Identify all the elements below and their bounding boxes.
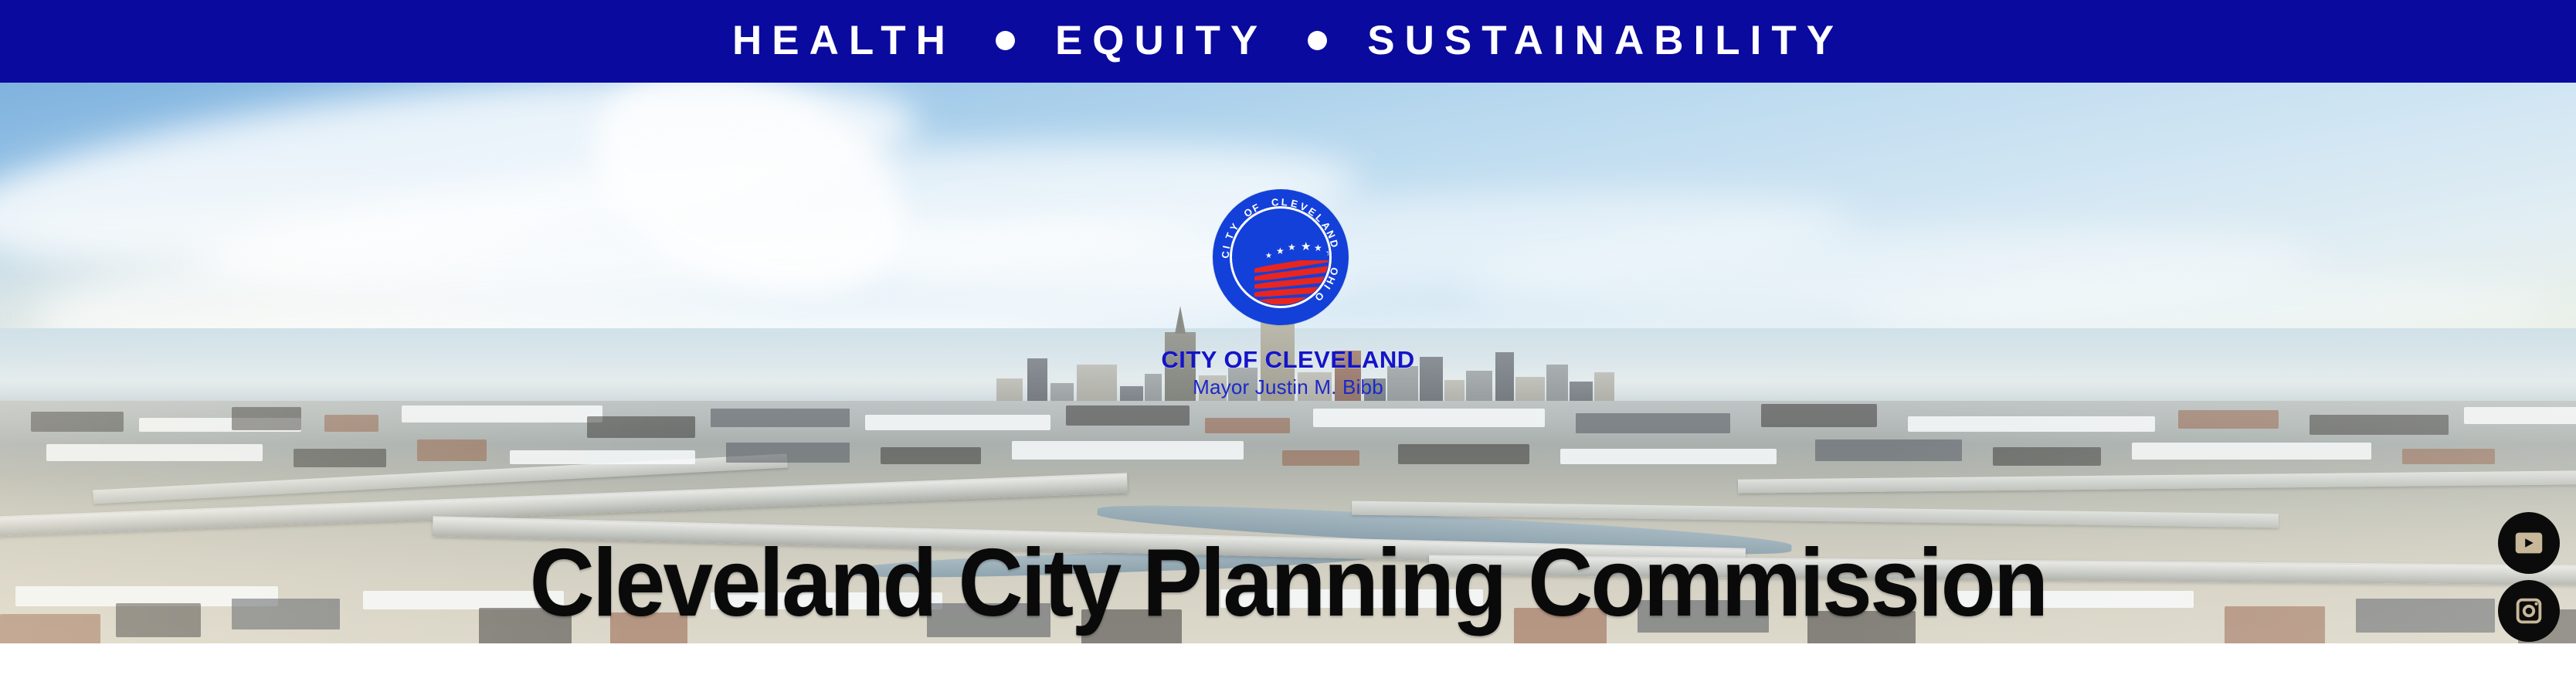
highway-ramp <box>1738 470 2576 494</box>
seal-star: ★ <box>1265 253 1272 260</box>
youtube-icon[interactable]: YouTube <box>2498 512 2560 574</box>
seal-star: ★ <box>1276 246 1285 256</box>
seal-star: ★ <box>1301 241 1311 253</box>
spire <box>1179 315 1181 332</box>
instagram-icon[interactable]: Instagram <box>2498 580 2560 642</box>
tagline-word-health: HEALTH <box>732 20 955 61</box>
page-title: Cleveland City Planning Commission <box>77 535 2499 631</box>
seal-flag <box>1254 260 1329 305</box>
seal-star: ★ <box>1314 243 1322 253</box>
city-wordmark: CITY OF CLEVELAND Mayor Justin M. Bibb <box>0 348 2576 398</box>
bullet-dot-icon <box>1308 31 1327 50</box>
city-of-cleveland-seal-icon: CITY OF CLEVELANDOHIO ★★★★★★★ CITY OF CL… <box>1213 189 1349 325</box>
social-links: YouTube Instagram Facebook <box>2498 512 2561 643</box>
hero-photo: CITY OF CLEVELANDOHIO ★★★★★★★ CITY OF CL… <box>0 83 2576 643</box>
tagline-word-equity: EQUITY <box>1055 20 1268 61</box>
seal-stars: ★★★★★★★ <box>1261 240 1329 262</box>
top-tagline-banner: HEALTH EQUITY SUSTAINABILITY <box>0 0 2576 83</box>
page-root: HEALTH EQUITY SUSTAINABILITY <box>0 0 2576 682</box>
seal-field: ★★★★★★★ <box>1233 209 1329 305</box>
wordmark-city-line: CITY OF CLEVELAND <box>0 348 2576 373</box>
seal-star: ★ <box>1325 248 1329 257</box>
bullet-dot-icon <box>996 31 1015 50</box>
tagline-word-sustainability: SUSTAINABILITY <box>1367 20 1844 61</box>
seal-star: ★ <box>1288 243 1296 252</box>
tagline-strip: HEALTH EQUITY SUSTAINABILITY <box>732 20 1844 61</box>
wordmark-mayor-line: Mayor Justin M. Bibb <box>0 377 2576 398</box>
